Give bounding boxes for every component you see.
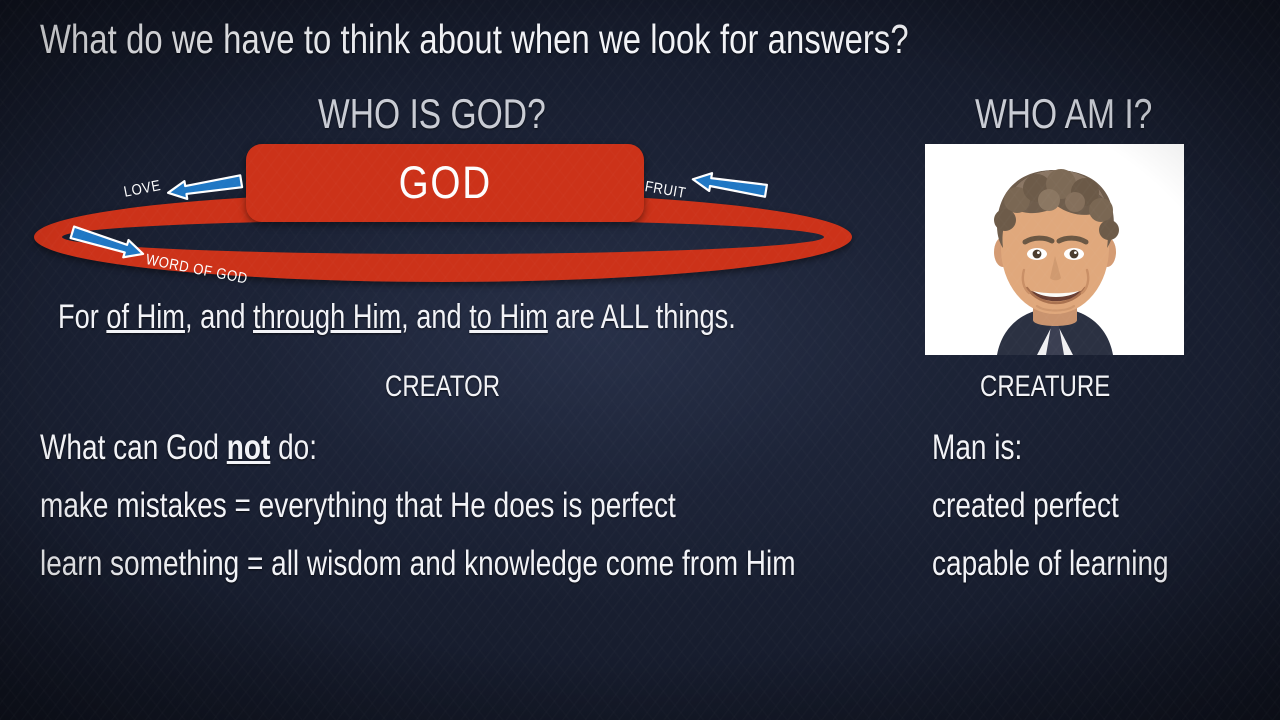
left-heading: What can God not do:	[40, 428, 317, 468]
verse-mid-2: , and	[401, 298, 469, 336]
left-line-2: make mistakes = everything that He does …	[40, 486, 676, 526]
left-heading-suffix: do:	[270, 428, 317, 467]
left-heading-prefix: What can God	[40, 428, 227, 467]
role-label-creature: CREATURE	[980, 370, 1110, 404]
verse-part-through-him: through Him	[253, 298, 401, 336]
verse-mid-1: , and	[185, 298, 253, 336]
verse-line: For of Him, and through Him, and to Him …	[58, 298, 736, 337]
role-label-creator: CREATOR	[385, 370, 500, 404]
slide-title: What do we have to think about when we l…	[40, 16, 909, 63]
god-center-label: GOD	[398, 157, 491, 209]
right-line-1: Man is:	[932, 428, 1022, 468]
verse-part-to-him: to Him	[469, 298, 548, 336]
verse-prefix: For	[58, 298, 106, 336]
ring-label-love: LOVE	[122, 177, 162, 201]
verse-suffix: are ALL things.	[548, 298, 736, 336]
right-line-2: created perfect	[932, 486, 1119, 526]
header-who-is-god: WHO IS GOD?	[318, 90, 546, 138]
header-who-am-i: WHO AM I?	[975, 90, 1152, 138]
headshot-illustration	[925, 144, 1184, 355]
avatar	[925, 144, 1184, 355]
left-heading-emphasis: not	[227, 428, 271, 467]
slide-canvas: What do we have to think about when we l…	[0, 0, 1280, 720]
god-cycle-diagram: GOD LOVE WORD OF GOD FRUIT	[28, 140, 858, 290]
left-line-3: learn something = all wisdom and knowled…	[40, 544, 796, 584]
verse-part-of-him: of Him	[106, 298, 185, 336]
right-line-3: capable of learning	[932, 544, 1169, 584]
god-center-box: GOD	[246, 144, 644, 222]
